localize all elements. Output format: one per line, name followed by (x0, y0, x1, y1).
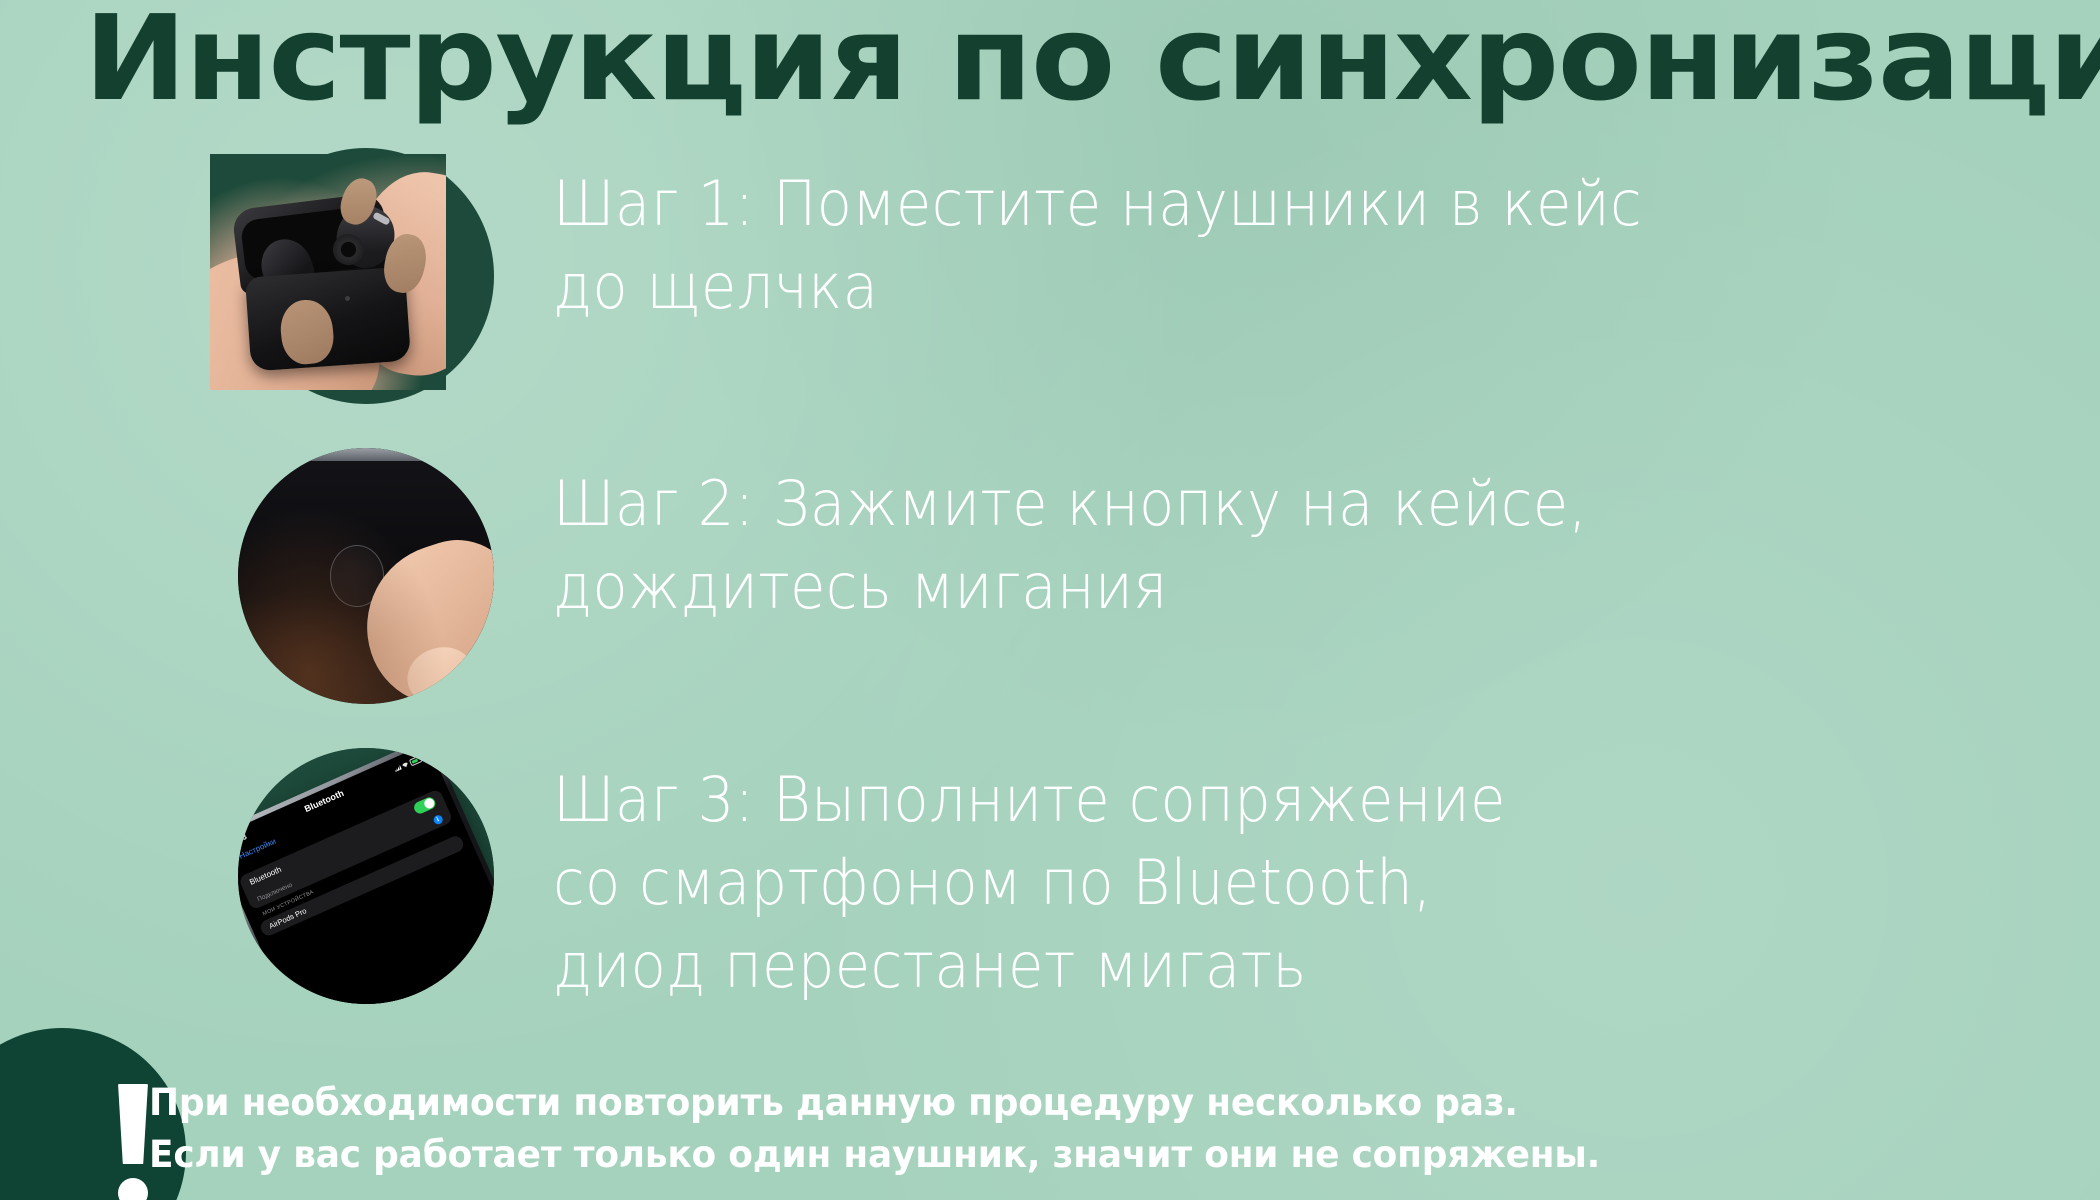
pressing-case-button-photo (238, 448, 494, 704)
step-3-line-3: диод перестанет мигать (553, 924, 1948, 1007)
exclamation-dot-icon (118, 1178, 148, 1200)
step-1-thumbnail (238, 148, 494, 404)
phone-bluetooth-settings-photo: 13:13 Bluetooth Настройки (238, 748, 494, 1004)
earbuds-case-in-hands-photo (210, 154, 446, 390)
info-icon[interactable]: i (432, 813, 444, 825)
step-3-thumbnail: 13:13 Bluetooth Настройки (238, 748, 494, 1004)
step-3-line-2: со смартфоном по Bluetooth, (553, 841, 1948, 924)
step-2-thumbnail (238, 448, 494, 704)
step-1-text: Шаг 1: Поместите наушники в кейс до щелч… (553, 162, 1948, 328)
step-2-line-2: дождитесь мигания (553, 545, 1948, 628)
footer-line-1: При необходимости повторить данную проце… (149, 1077, 2021, 1129)
step-2-text: Шаг 2: Зажмите кнопку на кейсе, дождитес… (553, 462, 1948, 628)
page-title: Инструкция по синхронизации (84, 2, 2100, 114)
footer-line-2: Если у вас работает только один наушник,… (149, 1129, 2021, 1181)
case-led-dot (345, 296, 350, 301)
infographic-poster: Инструкция по синхронизации (0, 0, 2100, 1200)
step-1-line-1: Шаг 1: Поместите наушники в кейс (553, 162, 1948, 245)
step-2-line-1: Шаг 2: Зажмите кнопку на кейсе, (553, 462, 1948, 545)
step-1-line-2: до щелчка (553, 245, 1948, 328)
step-3-line-1: Шаг 3: Выполните сопряжение (553, 758, 1948, 841)
footer-note: При необходимости повторить данную проце… (149, 1077, 2021, 1181)
warm-light-glow (238, 448, 494, 704)
step-3-text: Шаг 3: Выполните сопряжение со смартфоно… (553, 758, 1948, 1007)
